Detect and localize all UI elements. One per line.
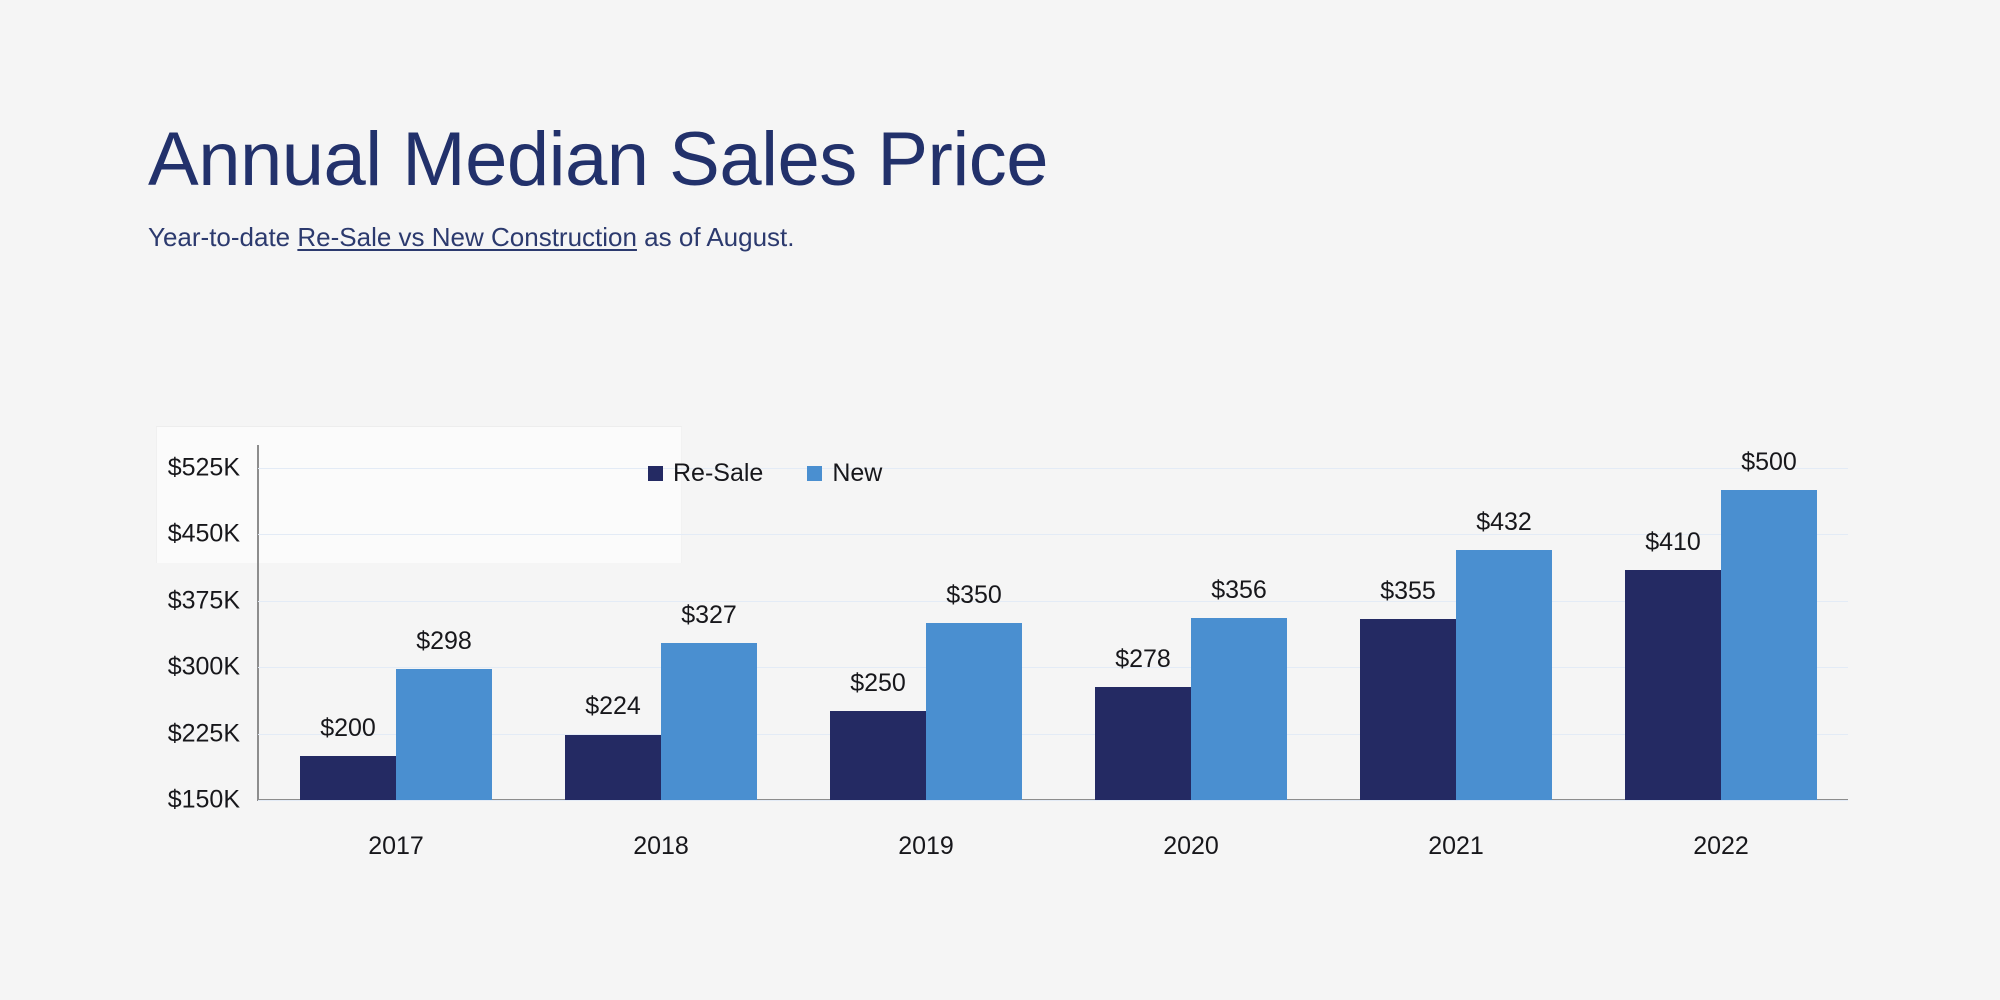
bar-2019-new[interactable]	[926, 623, 1022, 800]
x-axis-label-2020: 2020	[1163, 832, 1219, 861]
y-axis-tick-label: $525K	[130, 454, 240, 483]
plot-area	[258, 468, 1848, 800]
bar-chart: $525K$450K$375K$300K$225K$150K $200$298$…	[0, 0, 2000, 1000]
bar-2021-re-sale[interactable]	[1360, 619, 1456, 800]
gridline	[258, 601, 1848, 602]
y-axis-tick-label: $450K	[130, 520, 240, 549]
bar-2020-re-sale[interactable]	[1095, 687, 1191, 800]
x-axis-label-2021: 2021	[1428, 832, 1484, 861]
gridline	[258, 534, 1848, 535]
legend-swatch-icon	[807, 466, 822, 481]
bar-2020-new[interactable]	[1191, 618, 1287, 800]
bar-value-label: $355	[1380, 577, 1436, 606]
bar-value-label: $356	[1211, 576, 1267, 605]
bar-2019-re-sale[interactable]	[830, 711, 926, 800]
bar-2018-new[interactable]	[661, 643, 757, 800]
bar-value-label: $224	[585, 692, 641, 721]
bar-value-label: $250	[850, 669, 906, 698]
y-axis-tick-label: $375K	[130, 586, 240, 615]
gridline	[258, 468, 1848, 469]
bar-value-label: $410	[1645, 528, 1701, 557]
bar-2022-new[interactable]	[1721, 490, 1817, 800]
gridline	[258, 734, 1848, 735]
chart-legend: Re-SaleNew	[648, 459, 882, 488]
bar-value-label: $200	[320, 714, 376, 743]
legend-swatch-icon	[648, 466, 663, 481]
bar-value-label: $327	[681, 601, 737, 630]
x-axis-label-2017: 2017	[368, 832, 424, 861]
bar-value-label: $350	[946, 581, 1002, 610]
x-axis-label-2019: 2019	[898, 832, 954, 861]
gridline	[258, 800, 1848, 801]
x-axis-label-2018: 2018	[633, 832, 689, 861]
y-axis-tick-label: $150K	[130, 786, 240, 815]
bar-value-label: $432	[1476, 508, 1532, 537]
gridline	[258, 667, 1848, 668]
bar-value-label: $278	[1115, 645, 1171, 674]
legend-item-re-sale[interactable]: Re-Sale	[648, 459, 763, 488]
y-axis-tick-labels: $525K$450K$375K$300K$225K$150K	[130, 0, 240, 1000]
x-axis-label-2022: 2022	[1693, 832, 1749, 861]
y-axis-tick-label: $225K	[130, 719, 240, 748]
bar-2017-new[interactable]	[396, 669, 492, 800]
bar-2017-re-sale[interactable]	[300, 756, 396, 800]
legend-label: Re-Sale	[673, 459, 763, 488]
y-axis-tick-label: $300K	[130, 653, 240, 682]
bar-2018-re-sale[interactable]	[565, 735, 661, 801]
legend-item-new[interactable]: New	[807, 459, 882, 488]
bar-2021-new[interactable]	[1456, 550, 1552, 800]
legend-label: New	[832, 459, 882, 488]
bar-value-label: $298	[416, 627, 472, 656]
bar-value-label: $500	[1741, 448, 1797, 477]
bar-2022-re-sale[interactable]	[1625, 570, 1721, 800]
